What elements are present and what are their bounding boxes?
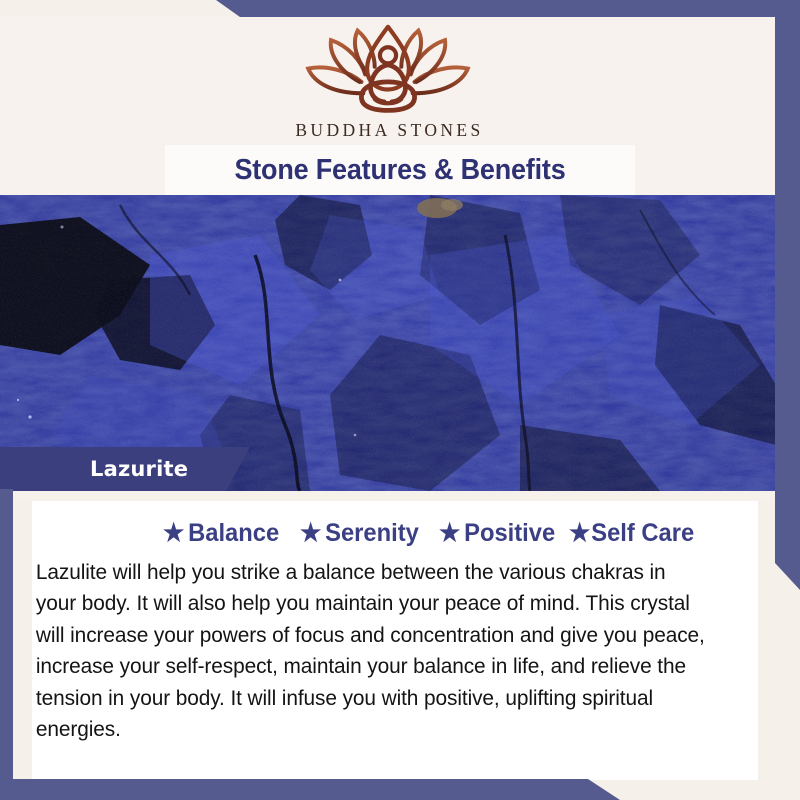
feature-item: ★ Serenity [300, 519, 419, 548]
brand-logo: BUDDHA STONES [0, 23, 776, 141]
lotus-meditation-icon [293, 23, 483, 118]
brand-name: BUDDHA STONES [292, 120, 483, 141]
frame-band-left [0, 489, 13, 800]
feature-label: Balance [188, 519, 279, 548]
star-icon: ★ [569, 521, 590, 546]
header: BUDDHA STONES Stone Features & Benefits [0, 17, 776, 195]
stone-photo [0, 195, 776, 491]
feature-label: Self Care [591, 519, 694, 548]
feature-list: ★ Balance ★ Serenity ★ Positive ★ Self C… [32, 519, 750, 548]
frame-band-top [0, 0, 800, 17]
feature-label: Serenity [325, 519, 419, 548]
page-title-box: Stone Features & Benefits [165, 145, 635, 195]
stone-name-banner: Lazurite [0, 447, 250, 491]
frame-band-bottom [0, 779, 620, 800]
stone-photo-graphic [0, 195, 776, 491]
feature-item: ★ Positive [439, 519, 555, 548]
content-top-strip [13, 491, 776, 501]
star-icon: ★ [163, 521, 184, 546]
frame-band-right [775, 0, 800, 590]
feature-item: ★ Self Care [569, 519, 694, 548]
content-card: ★ Balance ★ Serenity ★ Positive ★ Self C… [32, 501, 758, 780]
star-icon: ★ [439, 521, 460, 546]
stone-name-label: Lazurite [0, 457, 188, 481]
feature-item: ★ Balance [163, 519, 279, 548]
page-title: Stone Features & Benefits [234, 154, 565, 187]
star-icon: ★ [300, 521, 321, 546]
stone-description: Lazulite will help you strike a balance … [32, 557, 728, 745]
feature-label: Positive [464, 519, 555, 548]
